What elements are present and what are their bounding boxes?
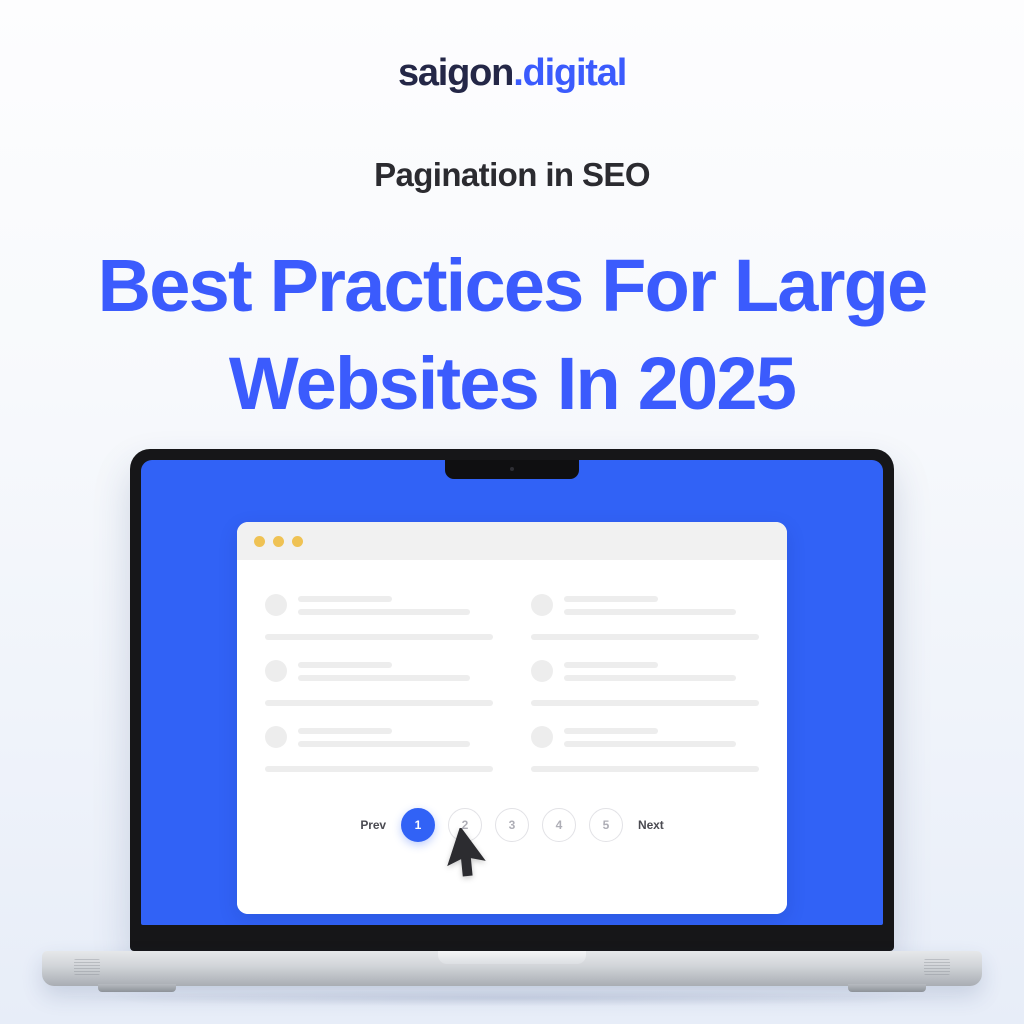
page-title: Best Practices For Large Websites In 202…	[0, 237, 1024, 432]
logo-primary-text: saigon	[398, 52, 513, 94]
base-lip	[438, 951, 586, 964]
list-item[interactable]	[531, 586, 759, 652]
row-divider	[265, 700, 493, 706]
placeholder-title-line	[298, 662, 392, 668]
browser-titlebar	[237, 522, 787, 560]
browser-content: Prev 1 2 3 4 5 Next	[237, 560, 787, 914]
row-divider	[265, 766, 493, 772]
laptop-screen: Prev 1 2 3 4 5 Next	[141, 460, 883, 925]
laptop-shadow	[62, 990, 962, 1006]
pagination-next-button[interactable]: Next	[636, 818, 666, 832]
placeholder-title-line	[564, 728, 658, 734]
mouse-pointer-icon	[446, 828, 490, 880]
list-item[interactable]	[265, 718, 493, 784]
pagination-prev-button[interactable]: Prev	[358, 818, 388, 832]
window-maximize-icon[interactable]	[292, 536, 303, 547]
placeholder-title-line	[564, 596, 658, 602]
avatar	[265, 726, 287, 748]
speaker-grille-left-icon	[74, 959, 100, 975]
placeholder-body-line	[298, 609, 470, 615]
placeholder-body-line	[298, 741, 470, 747]
pagination: Prev 1 2 3 4 5 Next	[237, 808, 787, 842]
window-close-icon[interactable]	[254, 536, 265, 547]
avatar	[531, 660, 553, 682]
placeholder-body-line	[564, 741, 736, 747]
laptop-mockup: Prev 1 2 3 4 5 Next	[117, 449, 907, 986]
window-minimize-icon[interactable]	[273, 536, 284, 547]
row-divider	[531, 700, 759, 706]
laptop-lid: Prev 1 2 3 4 5 Next	[130, 449, 894, 951]
placeholder-body-line	[564, 675, 736, 681]
list-item[interactable]	[531, 718, 759, 784]
list-item[interactable]	[531, 652, 759, 718]
laptop-base	[42, 951, 982, 986]
logo-accent-text: .digital	[513, 52, 626, 94]
pagination-page-5[interactable]: 5	[589, 808, 623, 842]
row-divider	[531, 766, 759, 772]
browser-window: Prev 1 2 3 4 5 Next	[237, 522, 787, 914]
avatar	[531, 726, 553, 748]
skeleton-list	[265, 586, 759, 784]
row-divider	[531, 634, 759, 640]
speaker-grille-right-icon	[924, 959, 950, 975]
placeholder-body-line	[564, 609, 736, 615]
headline-line-2: Websites In 2025	[0, 335, 1024, 433]
camera-notch	[445, 460, 579, 479]
placeholder-title-line	[298, 728, 392, 734]
placeholder-title-line	[298, 596, 392, 602]
placeholder-title-line	[564, 662, 658, 668]
camera-dot-icon	[510, 467, 514, 471]
pagination-page-3[interactable]: 3	[495, 808, 529, 842]
eyebrow-text: Pagination in SEO	[0, 156, 1024, 194]
list-item[interactable]	[265, 652, 493, 718]
brand-logo: saigon.digital	[0, 54, 1024, 92]
placeholder-body-line	[298, 675, 470, 681]
avatar	[265, 660, 287, 682]
pagination-page-4[interactable]: 4	[542, 808, 576, 842]
headline-line-1: Best Practices For Large	[0, 237, 1024, 335]
avatar	[531, 594, 553, 616]
pagination-page-1[interactable]: 1	[401, 808, 435, 842]
avatar	[265, 594, 287, 616]
list-item[interactable]	[265, 586, 493, 652]
row-divider	[265, 634, 493, 640]
